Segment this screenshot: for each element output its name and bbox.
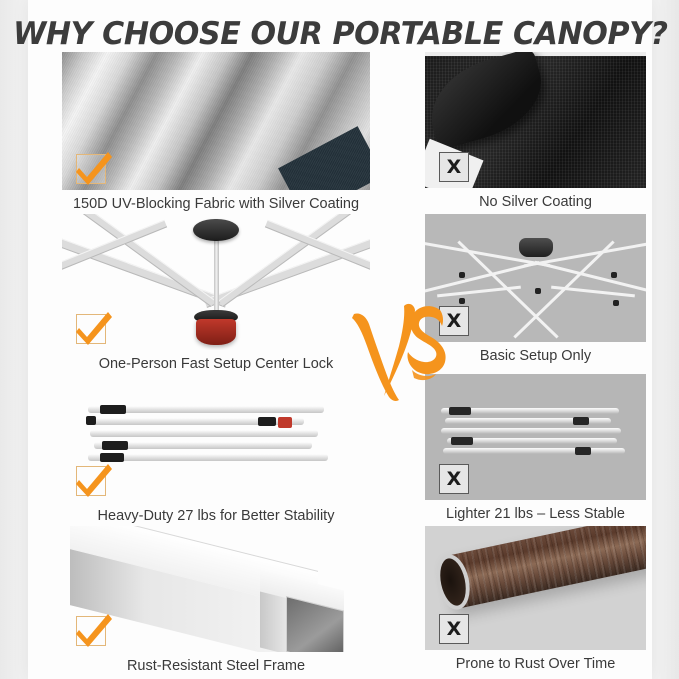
fabric-dark-corner <box>278 126 370 190</box>
ours-row-fabric: 150D UV-Blocking Fabric with Silver Coat… <box>62 52 370 214</box>
folded-red-accent <box>278 417 292 428</box>
x-icon: X <box>447 158 462 177</box>
infographic-page: WHY CHOOSE OUR PORTABLE CANOPY? 150D UV-… <box>0 0 679 679</box>
ours-column: 150D UV-Blocking Fabric with Silver Coat… <box>62 52 370 676</box>
title-bar: WHY CHOOSE OUR PORTABLE CANOPY? <box>28 12 652 56</box>
check-icon <box>72 306 114 348</box>
tube-inner <box>260 570 344 652</box>
folded-connector <box>102 441 128 450</box>
ours-photo-folded-frame <box>62 374 370 502</box>
theirs-photo-rusty-pipe: X <box>425 526 646 650</box>
folded-tube <box>90 430 318 437</box>
frame-joint-dot <box>535 288 541 294</box>
frame-strut <box>218 214 365 307</box>
x-badge: X <box>439 614 469 644</box>
folded-tube <box>88 454 328 461</box>
check-badge <box>76 154 106 184</box>
ours-row-setup: One-Person Fast Setup Center Lock <box>62 214 370 374</box>
theirs-row-setup: X Basic Setup Only <box>425 214 646 374</box>
theirs-caption-setup: Basic Setup Only <box>425 342 646 367</box>
theirs-row-fabric: X No Silver Coating <box>425 52 646 214</box>
frame-joint-dot <box>611 272 617 278</box>
ours-caption-frame-material: Rust-Resistant Steel Frame <box>62 652 370 677</box>
check-icon <box>72 458 114 500</box>
theirs-caption-weight: Lighter 21 lbs – Less Stable <box>425 500 646 525</box>
folded-connector <box>86 416 96 425</box>
ours-row-weight: Heavy-Duty 27 lbs for Better Stability <box>62 374 370 526</box>
ours-row-frame-material: Rust-Resistant Steel Frame <box>62 526 370 676</box>
x-icon: X <box>447 312 462 331</box>
peak-hub <box>519 238 553 257</box>
folded-connector <box>451 437 473 445</box>
x-badge: X <box>439 152 469 182</box>
peak-hub <box>193 219 239 241</box>
theirs-photo-black-fabric: X <box>425 52 646 188</box>
ours-photo-steel-tube <box>62 526 370 652</box>
check-badge <box>76 616 106 646</box>
x-icon: X <box>447 620 462 639</box>
check-badge <box>76 466 106 496</box>
folded-connector <box>258 417 276 426</box>
check-icon <box>72 608 114 650</box>
comparison-columns: 150D UV-Blocking Fabric with Silver Coat… <box>0 52 679 679</box>
x-icon: X <box>447 470 462 489</box>
folded-connector <box>100 405 126 414</box>
frame-joint-dot <box>459 298 465 304</box>
folded-tube <box>443 448 625 454</box>
ours-caption-setup: One-Person Fast Setup Center Lock <box>62 350 370 375</box>
center-lock-knob <box>196 319 236 345</box>
folded-connector <box>449 407 471 415</box>
theirs-row-weight: X Lighter 21 lbs – Less Stable <box>425 374 646 526</box>
theirs-caption-durability: Prone to Rust Over Time <box>425 650 646 675</box>
folded-tube <box>441 428 621 434</box>
check-badge <box>76 314 106 344</box>
theirs-photo-gray-frame: X <box>425 214 646 342</box>
x-badge: X <box>439 464 469 494</box>
center-pole <box>214 238 219 316</box>
page-title: WHY CHOOSE OUR PORTABLE CANOPY? <box>13 16 667 52</box>
frame-joint-dot <box>613 300 619 306</box>
ours-caption-fabric: 150D UV-Blocking Fabric with Silver Coat… <box>62 190 370 215</box>
theirs-row-durability: X Prone to Rust Over Time <box>425 526 646 676</box>
check-icon <box>72 146 114 188</box>
ours-photo-silver-fabric <box>62 52 370 190</box>
frame-joint-dot <box>459 272 465 278</box>
tube-inner-side <box>260 592 288 652</box>
theirs-column: X No Silver Coating <box>425 52 646 676</box>
folded-connector <box>573 417 589 425</box>
folded-connector <box>575 447 591 455</box>
theirs-photo-gray-folded-frame: X <box>425 374 646 500</box>
ours-caption-weight: Heavy-Duty 27 lbs for Better Stability <box>62 502 370 527</box>
ours-photo-canopy-frame <box>62 214 370 350</box>
pipe-body <box>443 526 646 609</box>
x-badge: X <box>439 306 469 336</box>
theirs-caption-fabric: No Silver Coating <box>425 188 646 213</box>
